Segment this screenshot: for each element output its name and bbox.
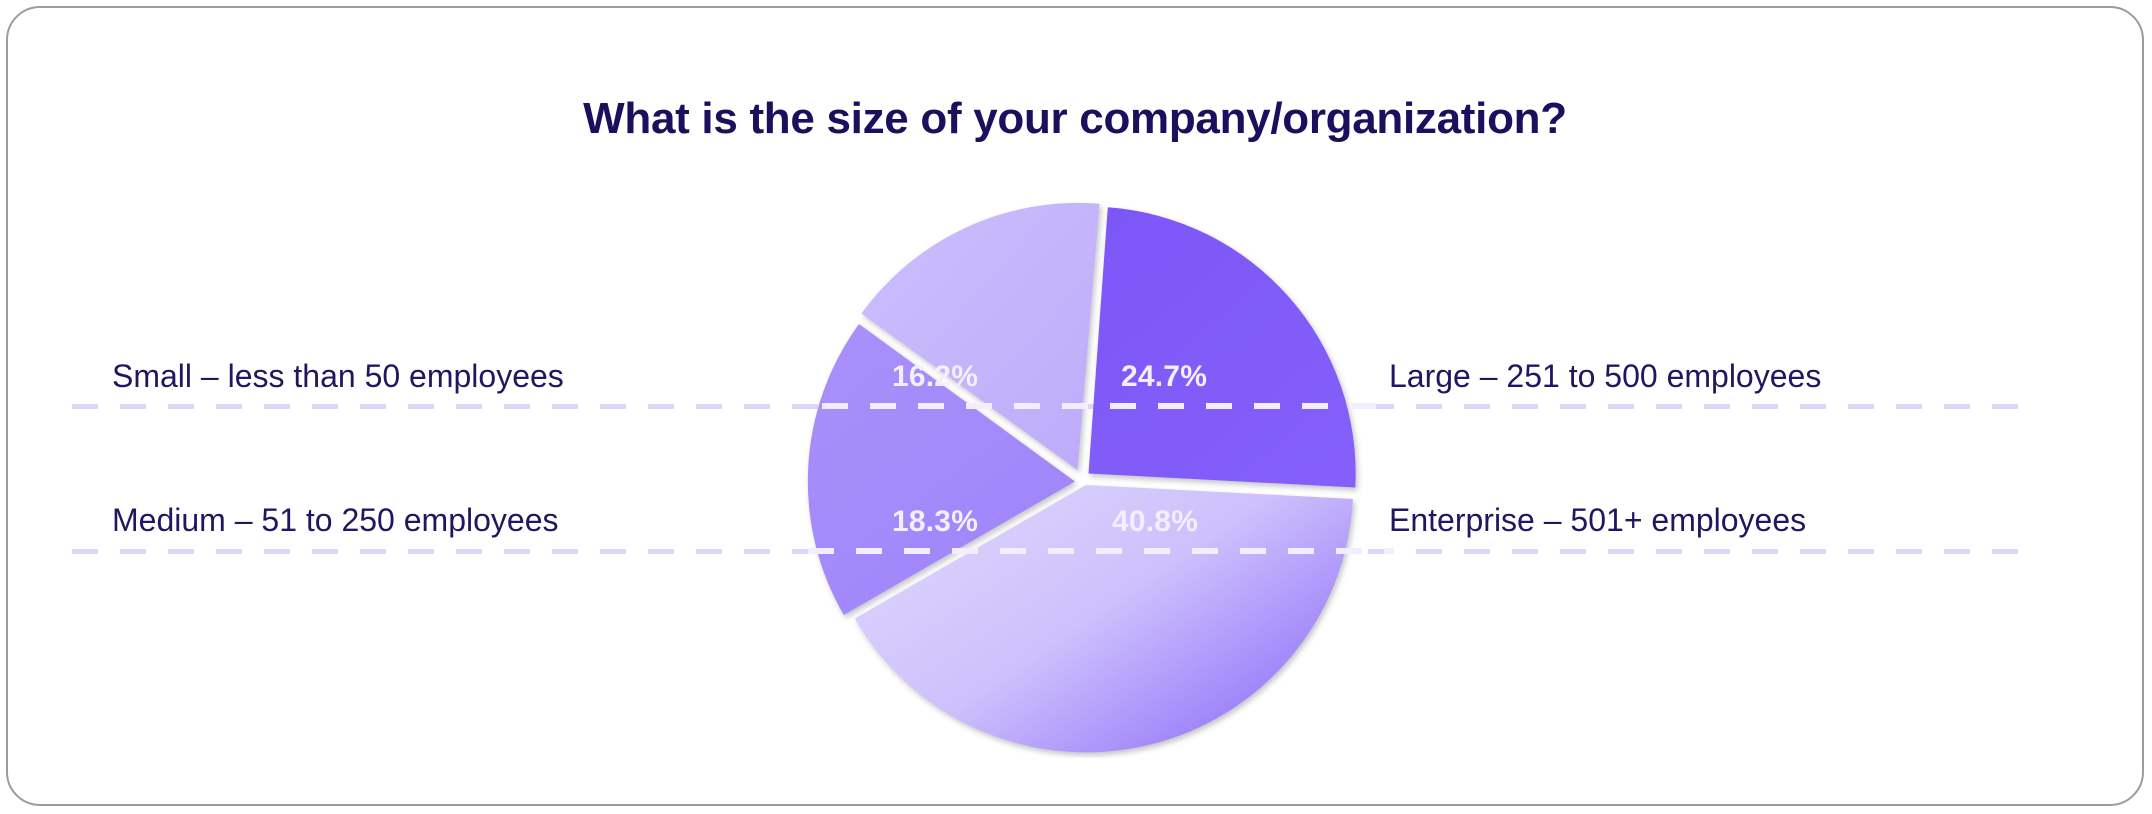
legend-label-enterprise: Enterprise – 501+ employees: [1389, 502, 1806, 539]
pie-value-enterprise: 40.8%: [1112, 505, 1198, 539]
page-title: What is the size of your company/organiz…: [8, 94, 2142, 144]
pie-chart-svg: [803, 198, 1363, 758]
legend-label-medium: Medium – 51 to 250 employees: [112, 502, 558, 539]
legend-label-small: Small – less than 50 employees: [112, 358, 564, 395]
pie-value-medium: 18.3%: [892, 505, 978, 539]
chart-card: What is the size of your company/organiz…: [6, 6, 2144, 806]
pie-value-large: 24.7%: [1121, 360, 1207, 394]
pie-slice-large: [1089, 207, 1356, 487]
legend-label-large: Large – 251 to 500 employees: [1389, 358, 1821, 395]
pie-value-small: 16.2%: [892, 360, 978, 394]
pie-chart: [803, 198, 1363, 758]
